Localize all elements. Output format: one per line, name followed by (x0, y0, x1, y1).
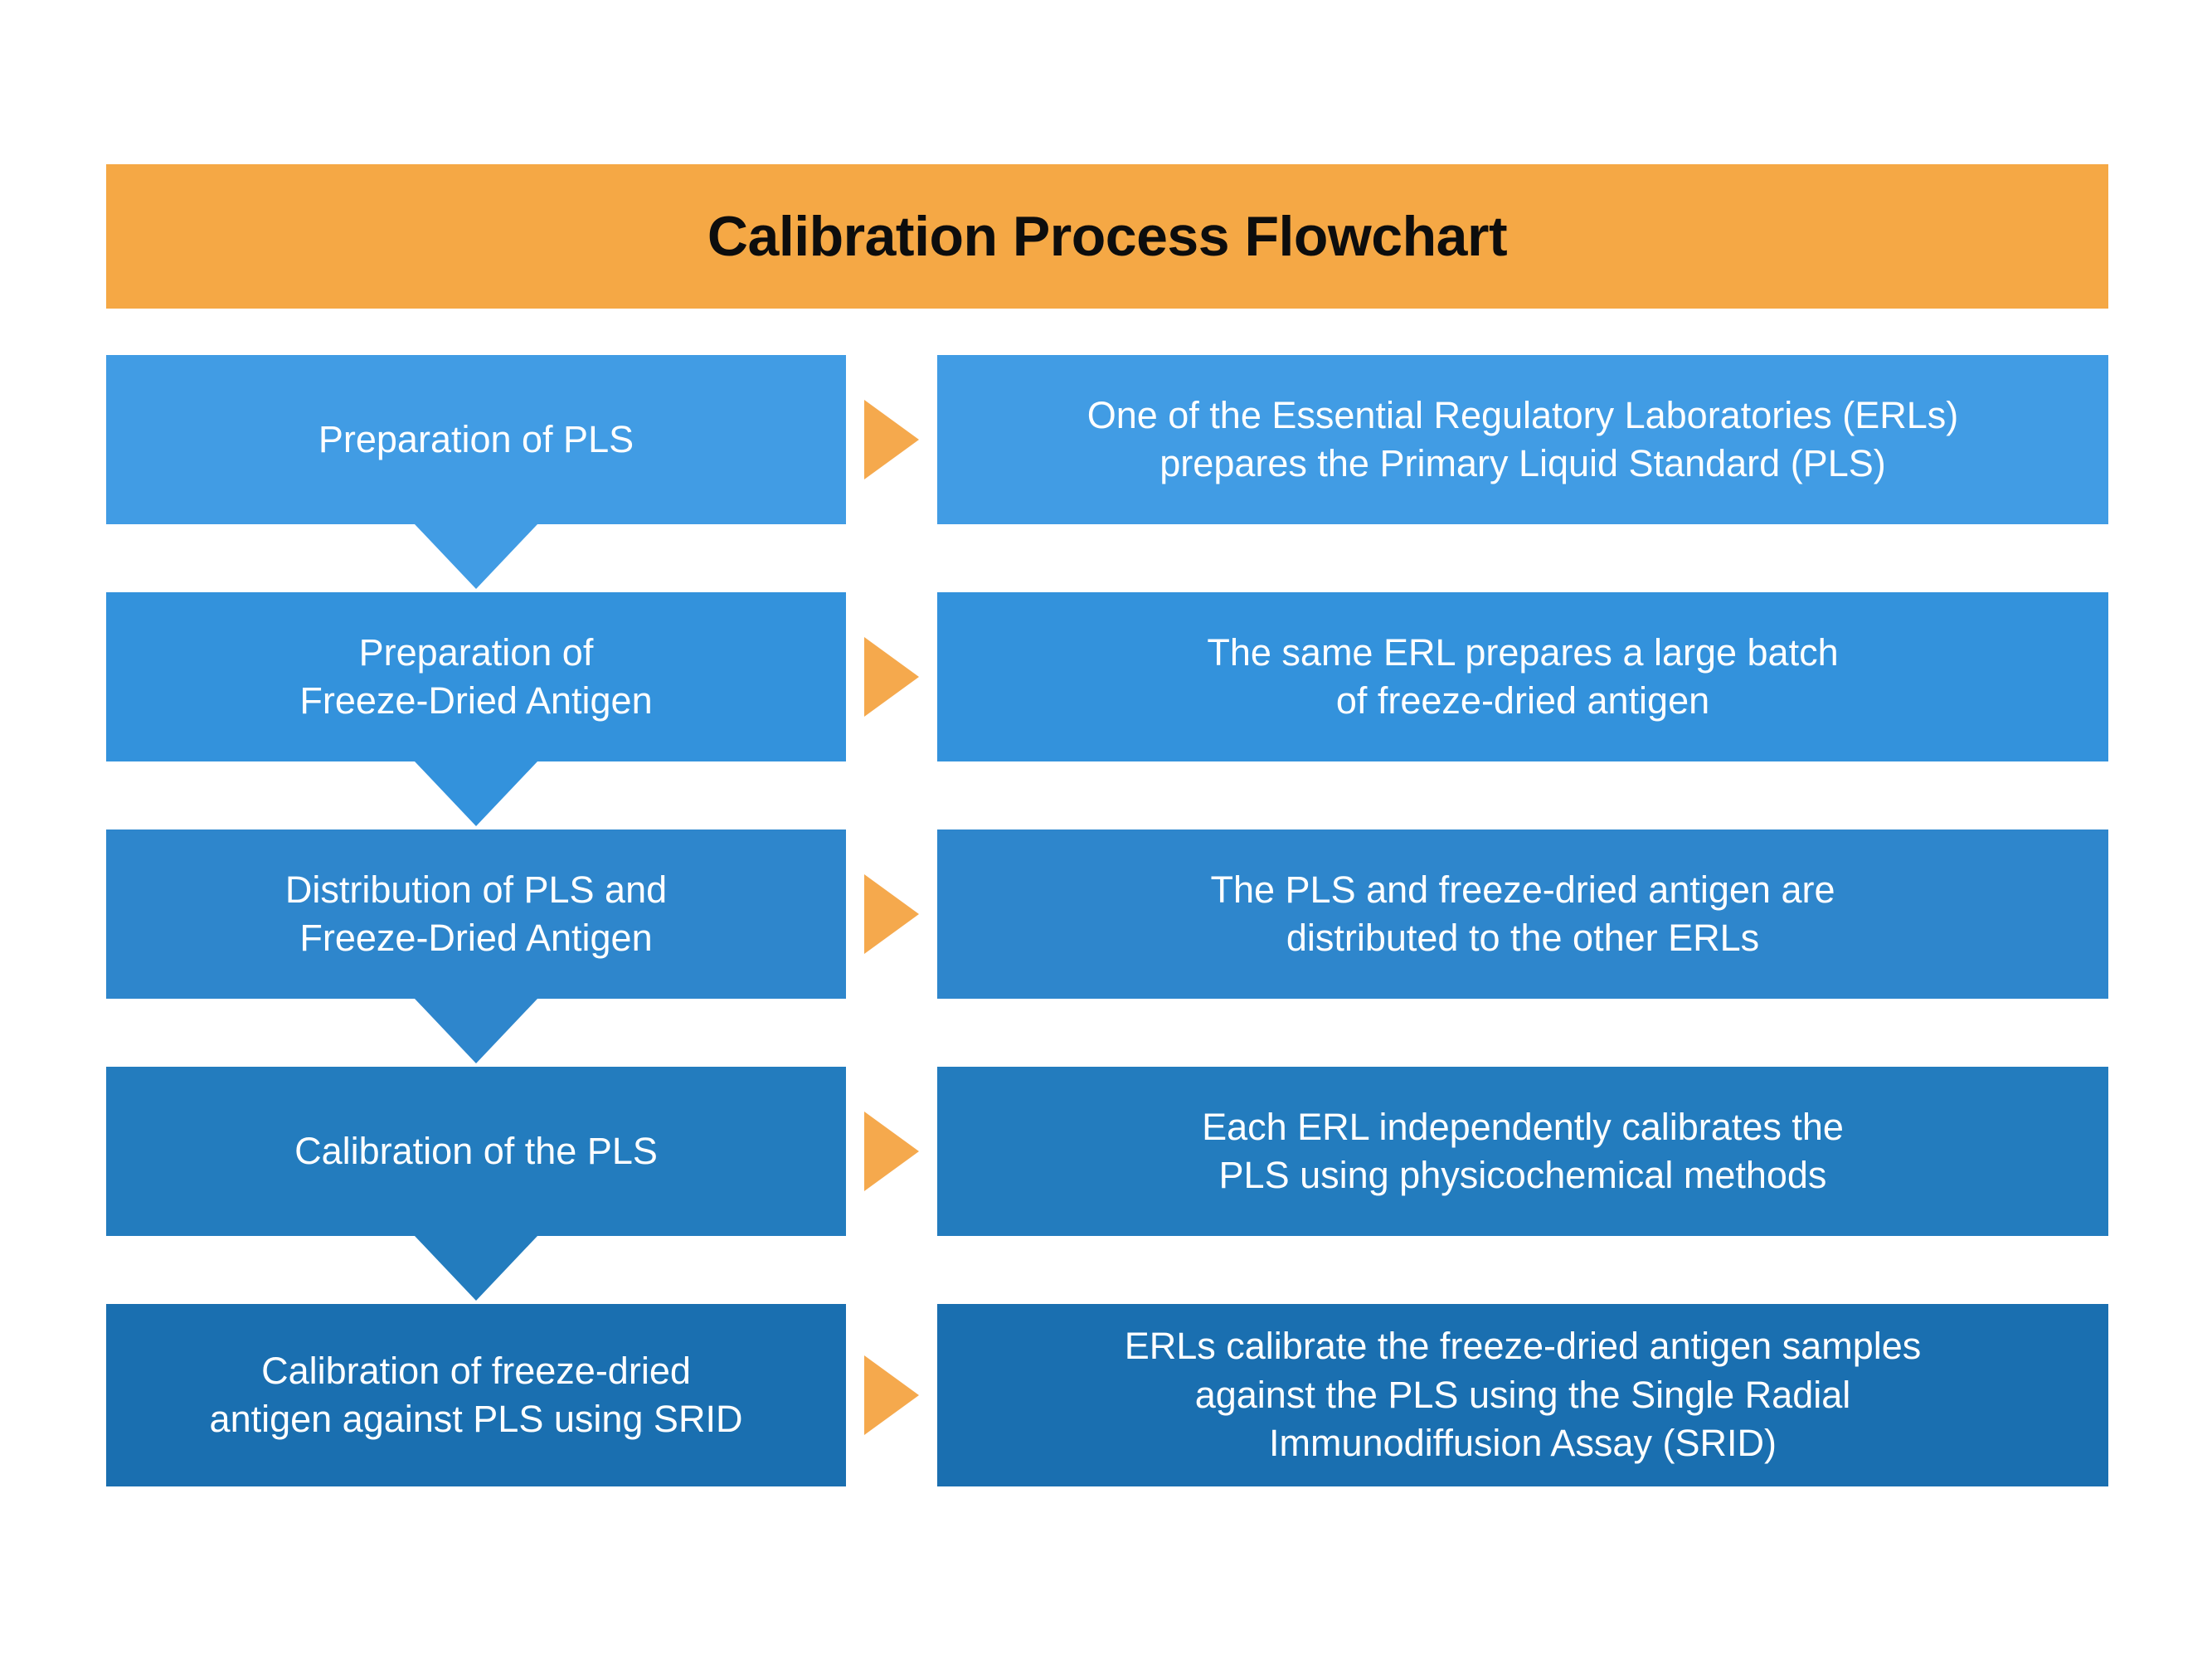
detail-box-3[interactable]: The PLS and freeze-dried antigen are dis… (937, 829, 2108, 999)
right-triangle-arrow-icon (864, 874, 919, 954)
down-triangle-icon (415, 1236, 537, 1301)
down-triangle-icon (415, 761, 537, 826)
detail-box-5[interactable]: ERLs calibrate the freeze-dried antigen … (937, 1304, 2108, 1486)
step-label: Preparation of PLS (128, 416, 824, 465)
step-label: Preparation of Freeze-Dried Antigen (128, 629, 824, 726)
detail-box-1[interactable]: One of the Essential Regulatory Laborato… (937, 355, 2108, 524)
step-label: Calibration of the PLS (128, 1127, 824, 1176)
step-box-5[interactable]: Calibration of freeze-dried antigen agai… (106, 1304, 846, 1486)
step-label: Calibration of freeze-dried antigen agai… (128, 1347, 824, 1444)
right-triangle-arrow-icon (864, 1112, 919, 1191)
step-box-4[interactable]: Calibration of the PLS (106, 1067, 846, 1236)
flowchart-canvas: Calibration Process Flowchart Preparatio… (0, 0, 2212, 1659)
detail-label: Each ERL independently calibrates the PL… (957, 1103, 2088, 1200)
detail-label: The same ERL prepares a large batch of f… (957, 629, 2088, 726)
detail-box-4[interactable]: Each ERL independently calibrates the PL… (937, 1067, 2108, 1236)
detail-box-2[interactable]: The same ERL prepares a large batch of f… (937, 592, 2108, 761)
right-triangle-arrow-icon (864, 1355, 919, 1435)
detail-label: The PLS and freeze-dried antigen are dis… (957, 866, 2088, 963)
step-label: Distribution of PLS and Freeze-Dried Ant… (128, 866, 824, 963)
down-triangle-icon (415, 524, 537, 589)
step-box-3[interactable]: Distribution of PLS and Freeze-Dried Ant… (106, 829, 846, 999)
detail-label: One of the Essential Regulatory Laborato… (957, 392, 2088, 489)
flowchart-rows-container: Preparation of PLSOne of the Essential R… (0, 0, 2212, 1659)
right-triangle-arrow-icon (864, 400, 919, 479)
down-triangle-icon (415, 999, 537, 1063)
step-box-1[interactable]: Preparation of PLS (106, 355, 846, 524)
step-box-2[interactable]: Preparation of Freeze-Dried Antigen (106, 592, 846, 761)
detail-label: ERLs calibrate the freeze-dried antigen … (957, 1322, 2088, 1468)
right-triangle-arrow-icon (864, 637, 919, 717)
